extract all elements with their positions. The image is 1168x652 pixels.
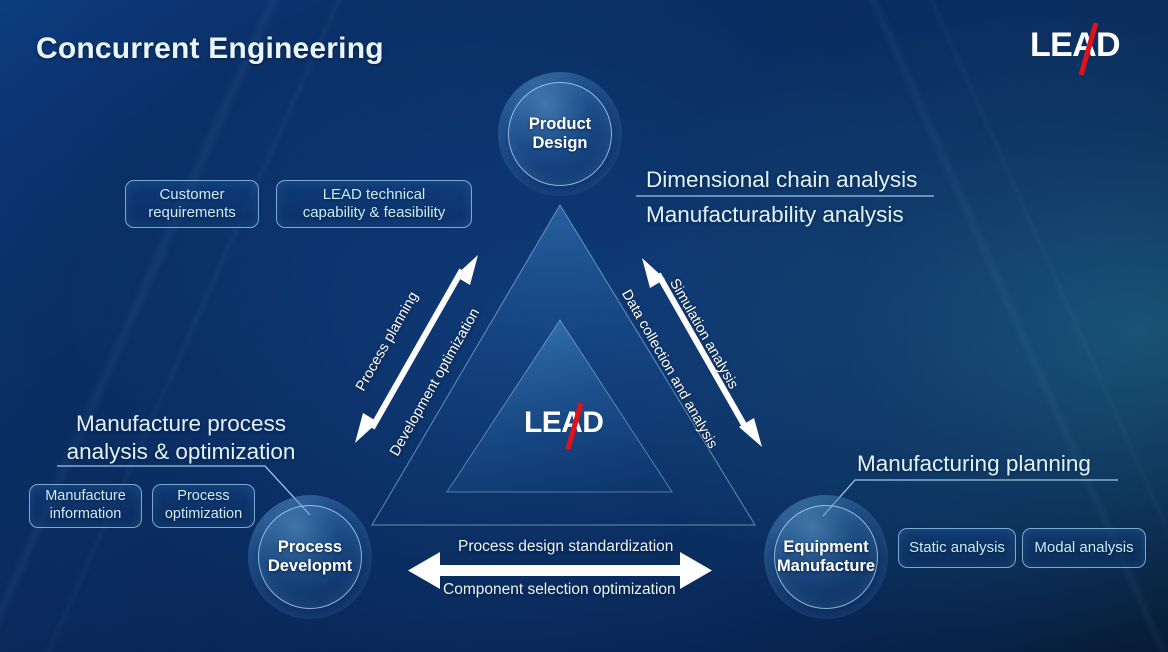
box-line1: Static analysis <box>909 539 1005 557</box>
node-label-line1: Product <box>529 115 591 133</box>
box-line1: Modal analysis <box>1034 539 1133 557</box>
box-line2: capability & feasibility <box>303 204 446 221</box>
lead-logo-text: LEAD <box>524 408 604 438</box>
arrow-label-text: Process design standardization <box>458 538 673 555</box>
heading-line1: Manufacture process <box>76 411 286 436</box>
node-label-line2: Manufacture <box>777 557 875 575</box>
lead-logo-text: LEAD <box>1030 28 1118 62</box>
node-label: Equipment Manufacture <box>777 538 875 577</box>
heading-manufacture-process-analysis: Manufacture process analysis & optimizat… <box>46 410 316 466</box>
arrow-label-text: Component selection optimization <box>443 581 676 598</box>
arrow-label-process-design-standardization: Process design standardization <box>458 538 673 556</box>
node-product-design[interactable]: Product Design <box>498 72 622 196</box>
node-process-development[interactable]: Process Developmt <box>248 495 372 619</box>
box-text: Process optimization <box>165 488 242 523</box>
arrow-label-component-selection-optimization: Component selection optimization <box>443 581 676 599</box>
slide-canvas: Concurrent Engineering LEAD LEAD Product… <box>0 0 1168 652</box>
box-line2: requirements <box>148 204 236 221</box>
heading-text: Manufacturability analysis <box>646 202 904 227</box>
box-modal-analysis[interactable]: Modal analysis <box>1022 528 1146 568</box>
node-label-line2: Developmt <box>268 557 352 575</box>
box-line1: Process <box>177 488 229 504</box>
box-process-optimization[interactable]: Process optimization <box>152 484 255 528</box>
arrow-label-process-planning: Process planning <box>353 289 422 394</box>
box-lead-technical-capability[interactable]: LEAD technical capability & feasibility <box>276 180 472 228</box>
heading-line2: analysis & optimization <box>67 439 296 464</box>
node-label: Product Design <box>529 115 591 154</box>
box-line1: Customer <box>159 186 224 203</box>
box-line1: Manufacture <box>45 488 126 504</box>
heading-manufacturability-analysis: Manufacturability analysis <box>646 201 904 229</box>
node-equipment-manufacture[interactable]: Equipment Manufacture <box>764 495 888 619</box>
arrow-label-text: Process planning <box>353 289 422 394</box>
arrow-label-text: Data collection and analysis <box>618 287 720 451</box>
lead-logo-header: LEAD <box>1030 28 1118 70</box>
lead-logo-center: LEAD <box>524 408 604 444</box>
node-label: Process Developmt <box>268 538 352 577</box>
heading-manufacturing-planning: Manufacturing planning <box>857 450 1091 478</box>
box-manufacture-information[interactable]: Manufacture information <box>29 484 142 528</box>
node-label-line1: Process <box>278 538 342 556</box>
page-title: Concurrent Engineering <box>36 32 384 66</box>
node-label-line1: Equipment <box>783 538 868 556</box>
node-label-line2: Design <box>532 134 587 152</box>
box-customer-requirements[interactable]: Customer requirements <box>125 180 259 228</box>
box-static-analysis[interactable]: Static analysis <box>898 528 1016 568</box>
outer-triangle <box>372 205 755 525</box>
box-line1: LEAD technical <box>323 186 426 203</box>
box-text: Manufacture information <box>45 488 126 523</box>
box-line2: information <box>50 506 122 522</box>
box-text: LEAD technical capability & feasibility <box>303 186 446 223</box>
heading-text: Manufacturing planning <box>857 451 1091 476</box>
box-line2: optimization <box>165 506 242 522</box>
box-text: Customer requirements <box>148 186 236 223</box>
heading-text: Dimensional chain analysis <box>646 167 917 192</box>
heading-dimensional-chain-analysis: Dimensional chain analysis <box>646 166 917 194</box>
arrow-label-data-collection-and-analysis: Data collection and analysis <box>618 287 720 451</box>
